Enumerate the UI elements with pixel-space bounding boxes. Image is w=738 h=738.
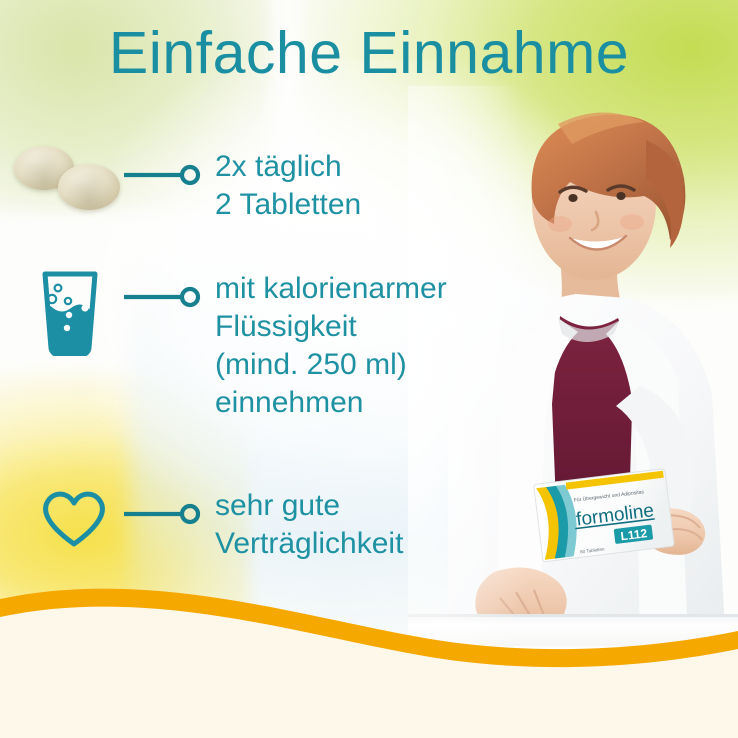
connector-line-1 bbox=[124, 164, 204, 191]
connector-line-3 bbox=[124, 503, 204, 530]
heart-icon bbox=[38, 488, 110, 550]
bullet-2-line-2: Flüssigkeit bbox=[215, 310, 357, 343]
bullet-2-line-4: einnehmen bbox=[215, 386, 363, 419]
promo-image-canvas: Für Übergewicht und Adipositas formoline… bbox=[0, 0, 738, 738]
bullet-3-line-1: sehr gute bbox=[215, 489, 340, 522]
bullet-2-line-3: (mind. 250 ml) bbox=[215, 348, 407, 381]
bullet-text-3: sehr guteVerträglichkeit bbox=[215, 487, 403, 563]
connector-line-2 bbox=[124, 286, 204, 313]
water-glass-icon bbox=[36, 268, 104, 356]
bullet-text-2: mit kalorienarmerFlüssigkeit(mind. 250 m… bbox=[215, 270, 447, 422]
bullet-1-line-2: 2 Tabletten bbox=[215, 188, 361, 221]
bottom-wave-decoration bbox=[0, 553, 738, 738]
two-tablets-icon bbox=[14, 146, 120, 212]
page-title: Einfache Einnahme bbox=[0, 24, 738, 83]
bullet-text-1: 2x täglich2 Tabletten bbox=[215, 148, 361, 224]
bullet-2-line-1: mit kalorienarmer bbox=[215, 272, 447, 305]
bullet-1-line-1: 2x täglich bbox=[215, 150, 342, 183]
